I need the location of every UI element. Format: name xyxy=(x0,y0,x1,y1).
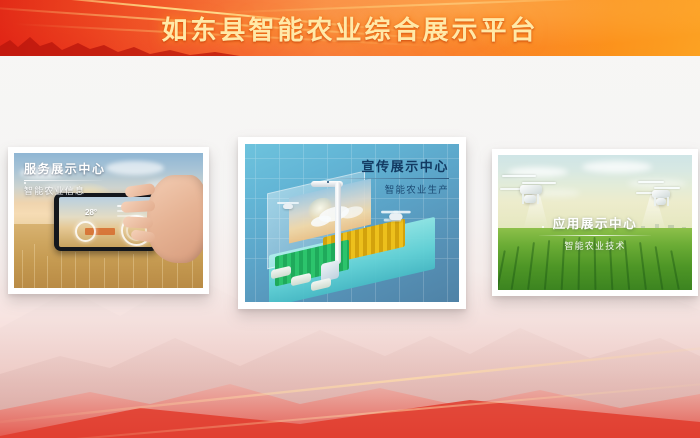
title-underline xyxy=(24,180,102,181)
card-application-center[interactable]: 应用展示中心 智能农业技术 xyxy=(492,149,698,296)
card-application-image: 应用展示中心 智能农业技术 xyxy=(498,155,692,290)
card-promotion-subtitle: 智能农业生产 xyxy=(329,182,449,196)
card-application-subtitle: 智能农业技术 xyxy=(498,239,692,252)
card-service-subtitle: 智能农业信息 xyxy=(24,184,106,197)
bullet-dot-icon xyxy=(24,182,26,184)
card-promotion-image: 宣传展示中心 智能农业生产 xyxy=(245,144,459,302)
title-underline xyxy=(539,235,651,236)
bullet-dot-icon xyxy=(542,226,544,228)
header-banner: 如东县智能农业综合展示平台 xyxy=(0,0,700,56)
page-title: 如东县智能农业综合展示平台 xyxy=(0,0,700,56)
hand-illustration xyxy=(147,175,203,263)
card-service-text: 服务展示中心 智能农业信息 xyxy=(24,160,106,197)
phone-temp-readout: 28° xyxy=(85,208,97,217)
page-root: 如东县智能农业综合展示平台 28° xyxy=(0,0,700,438)
card-service-image: 28° 服务展示中心 智能农 xyxy=(14,153,203,288)
card-promotion-center[interactable]: 宣传展示中心 智能农业生产 xyxy=(238,137,466,309)
title-underline xyxy=(329,178,449,179)
card-promotion-title: 宣传展示中心 xyxy=(329,156,449,175)
card-application-text: 应用展示中心 智能农业技术 xyxy=(498,213,692,252)
bullet-dot-icon xyxy=(327,181,329,183)
card-service-title: 服务展示中心 xyxy=(24,160,106,177)
card-application-title: 应用展示中心 xyxy=(498,213,692,232)
cloud-icon xyxy=(106,161,164,175)
card-promotion-text: 宣传展示中心 智能农业生产 xyxy=(329,156,449,196)
card-service-center[interactable]: 28° 服务展示中心 智能农 xyxy=(8,147,209,294)
